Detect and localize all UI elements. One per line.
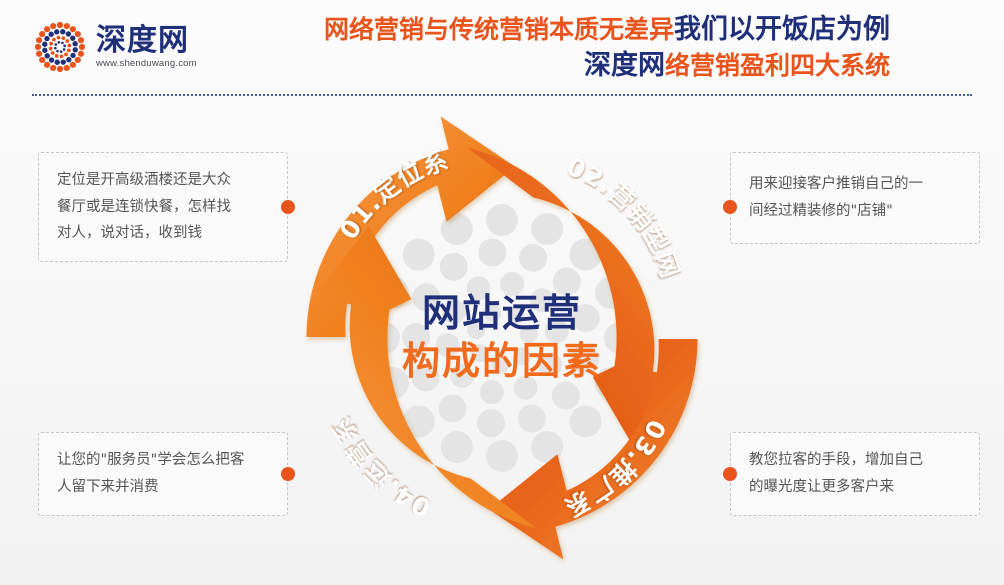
callout-bottom-left-text: 让您的"服务员"学会怎么把客 人留下来并消费 [57, 447, 269, 501]
callout-bottom-right-text: 教您拉客的手段，增加自己 的曝光度让更多客户来 [749, 447, 961, 501]
callout-top-right: 用来迎接客户推销自己的一 间经过精装修的"店铺" [730, 152, 980, 244]
headline-line-2-navy: 深度网 [584, 50, 665, 81]
callout-top-left-text: 定位是开高级酒楼还是大众 餐厅或是连锁快餐，怎样找 对人，说对话，收到钱 [57, 167, 269, 247]
callout-bottom-right: 教您拉客的手段，增加自己 的曝光度让更多客户来 [730, 432, 980, 516]
cycle-arrow-03 [489, 339, 698, 560]
headline: 网络营销与传统营销本质无差异我们以开饭店为例 深度网络营销盈利四大系统 [250, 12, 890, 83]
shenduwang-dot-circle-logo [32, 19, 88, 75]
callout-top-left: 定位是开高级酒楼还是大众 餐厅或是连锁快餐，怎样找 对人，说对话，收到钱 [38, 152, 288, 262]
brand-text: 深度网 www.shenduwang.com [96, 25, 197, 70]
cycle-arrows [307, 117, 698, 560]
connector-dot-bottom-right [723, 467, 737, 481]
connector-dot-bottom-left [281, 467, 295, 481]
connector-dot-top-left [281, 200, 295, 214]
cycle-diagram: 01.定位系统 02.营销型网站系统 03.推广系统 04.运营系统 [262, 98, 742, 578]
connector-dot-top-right [723, 200, 737, 214]
headline-line-1: 网络营销与传统营销本质无差异我们以开饭店为例 [250, 12, 890, 48]
headline-line-1-navy: 我们以开饭店为例 [674, 14, 890, 45]
headline-line-2: 深度网络营销盈利四大系统 [250, 48, 890, 84]
brand-logo: 深度网 www.shenduwang.com [32, 16, 232, 78]
headline-line-1-orange: 网络营销与传统营销本质无差异 [324, 15, 674, 44]
brand-url: www.shenduwang.com [96, 58, 197, 69]
header-divider [32, 94, 972, 96]
brand-name: 深度网 [96, 25, 197, 57]
slide-canvas: 深度网 www.shenduwang.com 网络营销与传统营销本质无差异我们以… [0, 0, 1004, 585]
callout-bottom-left: 让您的"服务员"学会怎么把客 人留下来并消费 [38, 432, 288, 516]
callout-top-right-text: 用来迎接客户推销自己的一 间经过精装修的"店铺" [749, 171, 961, 225]
headline-line-2-orange: 络营销盈利四大系统 [665, 51, 890, 80]
